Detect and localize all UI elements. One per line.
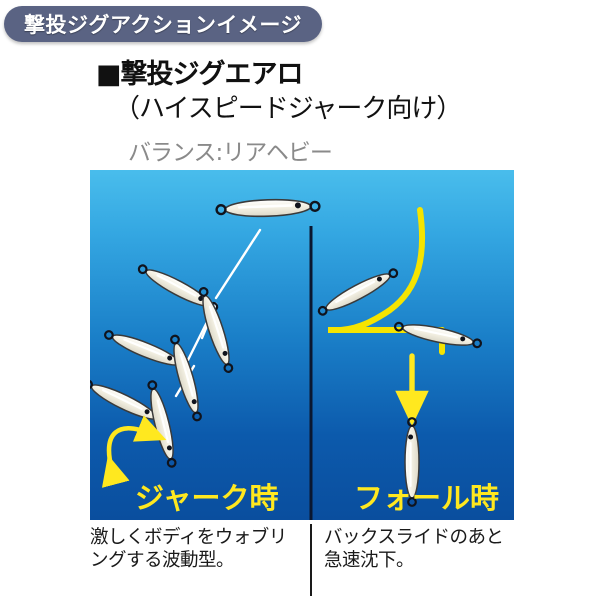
header-badge: 撃投ジグアクションイメージ — [4, 6, 322, 42]
fall-panel-group — [316, 210, 482, 506]
lure-top — [216, 198, 319, 218]
lure-jerk-4 — [167, 334, 205, 422]
caption-row: 激しくボディをウォブリングする波動型。 バックスライドのあと急速沈下。 — [90, 524, 514, 596]
balance-spec: バランス:リアヘビー — [128, 133, 332, 167]
header-badge-label: 撃投ジグアクションイメージ — [24, 9, 302, 39]
lure-fall-2 — [394, 319, 483, 351]
fall-mode-label: フォール時 — [354, 475, 499, 517]
lure-action-infographic: 撃投ジグアクションイメージ ■撃投ジグエアロ （ハイスピードジャーク向け） バラ… — [0, 0, 600, 600]
jerk-panel-group — [90, 230, 260, 470]
product-title: ■撃投ジグエアロ — [96, 52, 303, 91]
diagram-svg — [90, 170, 514, 520]
jerk-mode-label: ジャーク時 — [135, 475, 279, 517]
lure-jerk-6 — [145, 380, 180, 468]
jerk-caption: 激しくボディをウォブリングする波動型。 — [90, 524, 310, 596]
fall-caption: バックスライドのあと急速沈下。 — [310, 524, 514, 596]
water-diagram: ジャーク時 フォール時 — [90, 170, 514, 520]
product-subtitle: （ハイスピードジャーク向け） — [114, 88, 461, 125]
wobble-arrow — [109, 428, 152, 470]
fall-line — [328, 210, 442, 330]
